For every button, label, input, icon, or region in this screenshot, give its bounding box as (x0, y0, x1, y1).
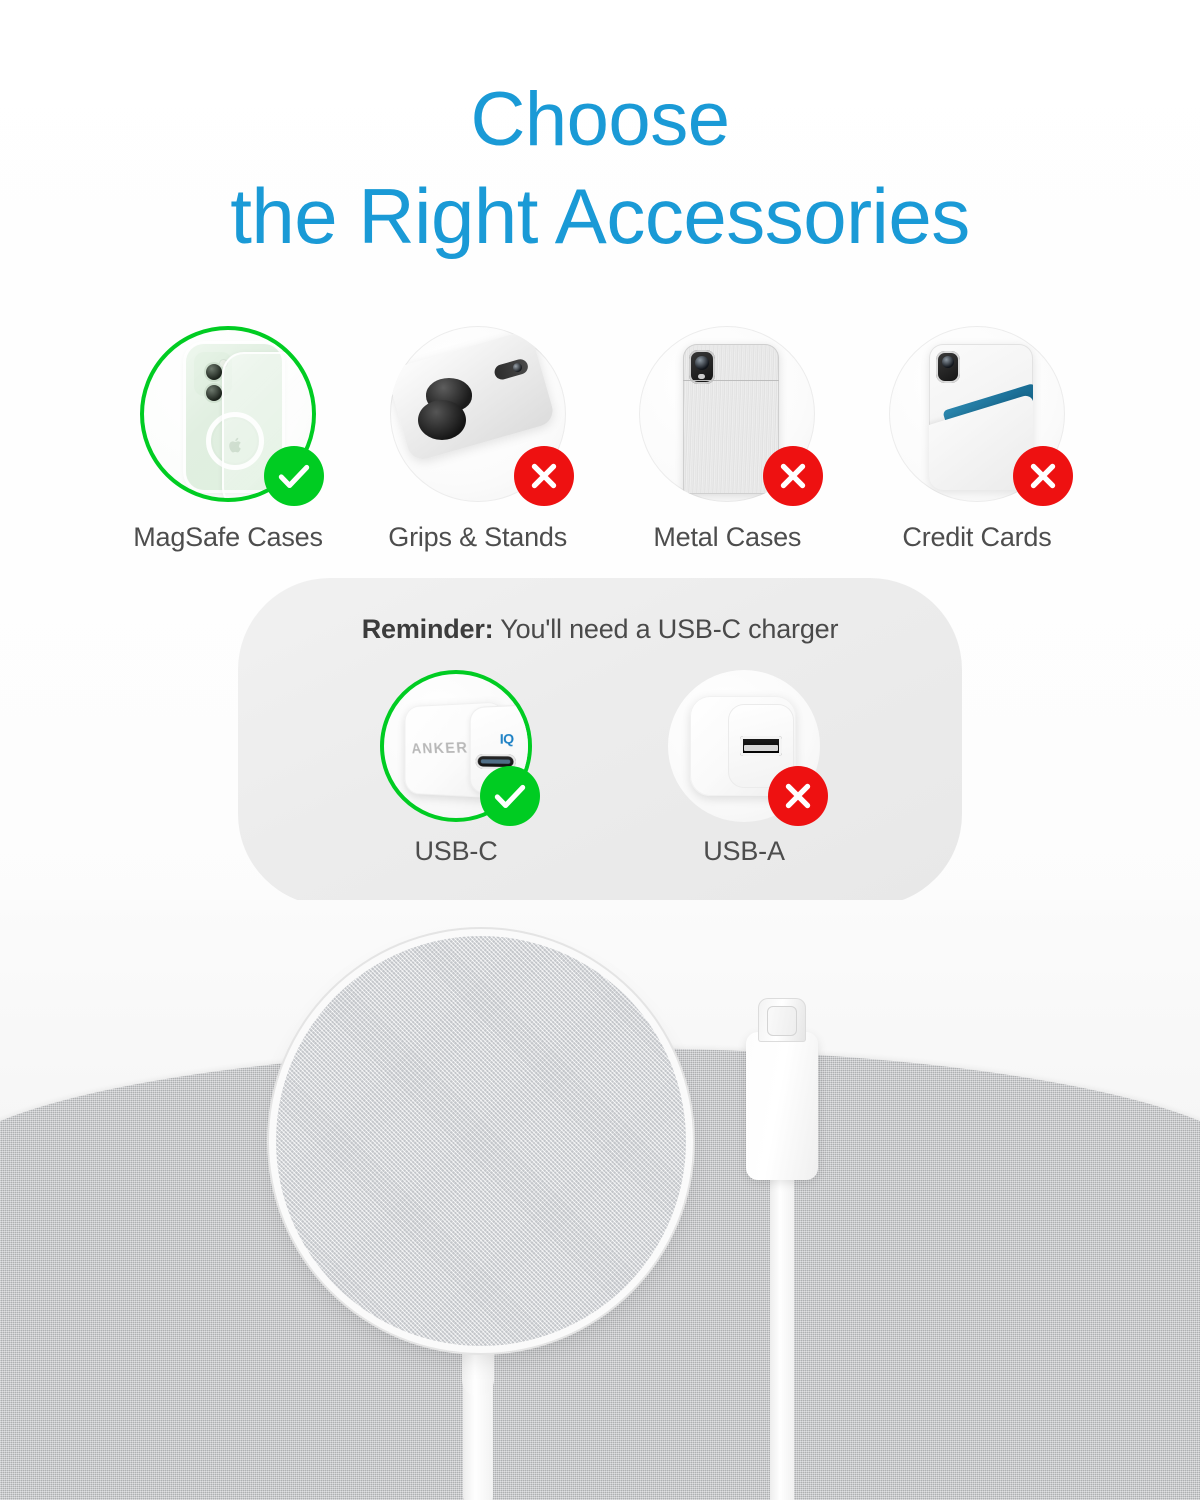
reminder-prefix: Reminder: (362, 614, 494, 644)
credit-card-thumb (889, 326, 1065, 502)
status-badge-check (264, 446, 324, 506)
camera-module-icon (689, 350, 715, 384)
accessory-row: MagSafe Cases G (110, 326, 1095, 553)
close-icon (774, 457, 812, 495)
camera-module-icon (936, 351, 960, 383)
camera-module-icon (492, 357, 529, 381)
reminder-panel: Reminder: You'll need a USB-C charger AN… (238, 578, 962, 906)
wireless-charging-pad (276, 936, 686, 1346)
poweriq-badge: IQ (500, 731, 514, 747)
reminder-text: Reminder: You'll need a USB-C charger (238, 614, 962, 645)
usbc-charger-thumb: ANKER IQ (380, 670, 532, 822)
close-icon (525, 457, 563, 495)
usb-c-cable (770, 1158, 794, 1500)
accessory-item-metal-cases: Metal Cases (609, 326, 845, 553)
status-badge-cross (514, 446, 574, 506)
reminder-body: You'll need a USB-C charger (500, 614, 838, 644)
metal-case-thumb (639, 326, 815, 502)
infographic-page: Choose the Right Accessories (0, 0, 1200, 1500)
accessory-label: Credit Cards (902, 522, 1051, 553)
usb-c-connector-housing (746, 1032, 818, 1180)
charger-row: ANKER IQ USB-C (238, 670, 962, 867)
charger-item-usb-c: ANKER IQ USB-C (356, 670, 556, 867)
pad-output-cable (463, 1330, 493, 1500)
product-photo (0, 900, 1200, 1500)
status-badge-cross (1013, 446, 1073, 506)
usb-c-connector-tip (758, 998, 806, 1042)
usba-charger-thumb (668, 670, 820, 822)
accessory-item-credit-cards: Credit Cards (859, 326, 1095, 553)
status-badge-cross (768, 766, 828, 826)
status-badge-check (480, 766, 540, 826)
accessory-label: MagSafe Cases (133, 522, 323, 553)
status-badge-cross (763, 446, 823, 506)
charger-label: USB-A (703, 836, 785, 867)
accessory-item-grips-stands: Grips & Stands (360, 326, 596, 553)
popsocket-grip-icon (418, 378, 480, 440)
grip-base-icon (418, 400, 466, 440)
accessory-item-magsafe-cases: MagSafe Cases (110, 326, 346, 553)
check-icon (275, 457, 313, 495)
title-line-1: Choose (0, 72, 1200, 168)
charger-item-usb-a: USB-A (644, 670, 844, 867)
accessory-label: Grips & Stands (388, 522, 567, 553)
magsafe-case-thumb (140, 326, 316, 502)
camera-lens-icon (206, 364, 222, 380)
close-icon (1024, 457, 1062, 495)
close-icon (779, 777, 817, 815)
camera-lens-icon (206, 385, 222, 401)
check-icon (491, 777, 529, 815)
accessory-label: Metal Cases (653, 522, 801, 553)
case-seam-line (683, 380, 779, 381)
page-title: Choose the Right Accessories (0, 72, 1200, 264)
title-line-2: the Right Accessories (0, 168, 1200, 264)
charger-label: USB-C (414, 836, 497, 867)
anker-brand-label: ANKER (411, 739, 469, 757)
usb-a-port-icon (740, 736, 782, 756)
grip-thumb (390, 326, 566, 502)
